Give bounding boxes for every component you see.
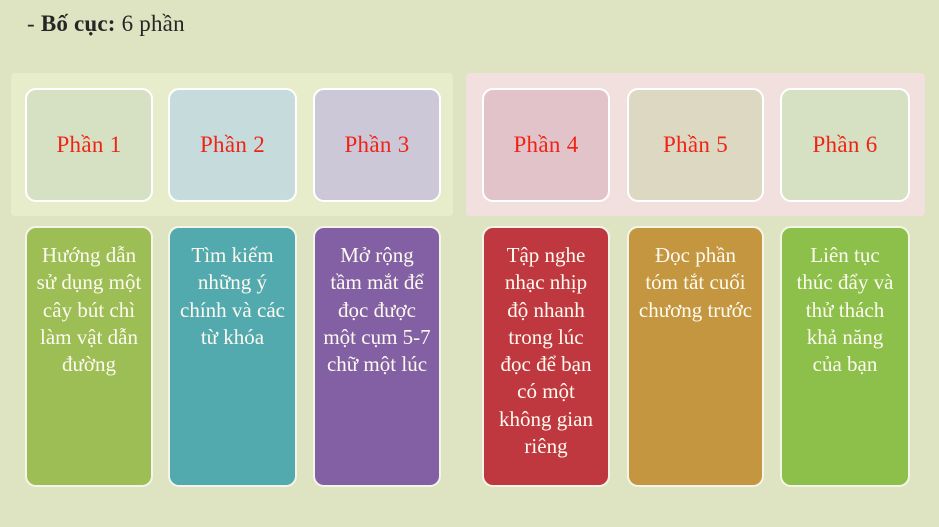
section-body-text-6: Liên tục thúc đẩy và thử thách khả năng …: [790, 242, 900, 378]
section-body-text-1: Hướng dẫn sử dụng một cây bút chì làm vậ…: [35, 242, 143, 378]
section-caption-1: Phần 1: [56, 132, 121, 158]
section-header-5[interactable]: Phần 5: [627, 88, 764, 202]
section-body-4[interactable]: Tập nghe nhạc nhịp độ nhanh trong lúc đọ…: [482, 226, 610, 487]
section-body-1[interactable]: Hướng dẫn sử dụng một cây bút chì làm vậ…: [25, 226, 153, 487]
section-body-text-3: Mở rộng tầm mắt để đọc được một cụm 5-7 …: [323, 242, 431, 378]
section-caption-4: Phần 4: [513, 132, 578, 158]
section-header-1[interactable]: Phần 1: [25, 88, 153, 202]
section-body-text-4: Tập nghe nhạc nhịp độ nhanh trong lúc đọ…: [492, 242, 600, 460]
section-body-text-5: Đọc phần tóm tắt cuối chương trước: [637, 242, 754, 324]
section-header-6[interactable]: Phần 6: [780, 88, 910, 202]
page-title: - Bố cục: 6 phần: [27, 11, 185, 37]
section-caption-6: Phần 6: [812, 132, 877, 158]
section-body-text-2: Tìm kiếm những ý chính và các từ khóa: [178, 242, 287, 351]
section-caption-5: Phần 5: [663, 132, 728, 158]
section-body-6[interactable]: Liên tục thúc đẩy và thử thách khả năng …: [780, 226, 910, 487]
title-value: 6 phần: [116, 11, 185, 36]
section-body-5[interactable]: Đọc phần tóm tắt cuối chương trước: [627, 226, 764, 487]
section-body-3[interactable]: Mở rộng tầm mắt để đọc được một cụm 5-7 …: [313, 226, 441, 487]
section-caption-3: Phần 3: [344, 132, 409, 158]
title-label: Bố cục:: [41, 11, 116, 36]
section-caption-2: Phần 2: [200, 132, 265, 158]
section-header-4[interactable]: Phần 4: [482, 88, 610, 202]
section-body-2[interactable]: Tìm kiếm những ý chính và các từ khóa: [168, 226, 297, 487]
section-header-2[interactable]: Phần 2: [168, 88, 297, 202]
title-dash: -: [27, 11, 41, 36]
section-header-3[interactable]: Phần 3: [313, 88, 441, 202]
